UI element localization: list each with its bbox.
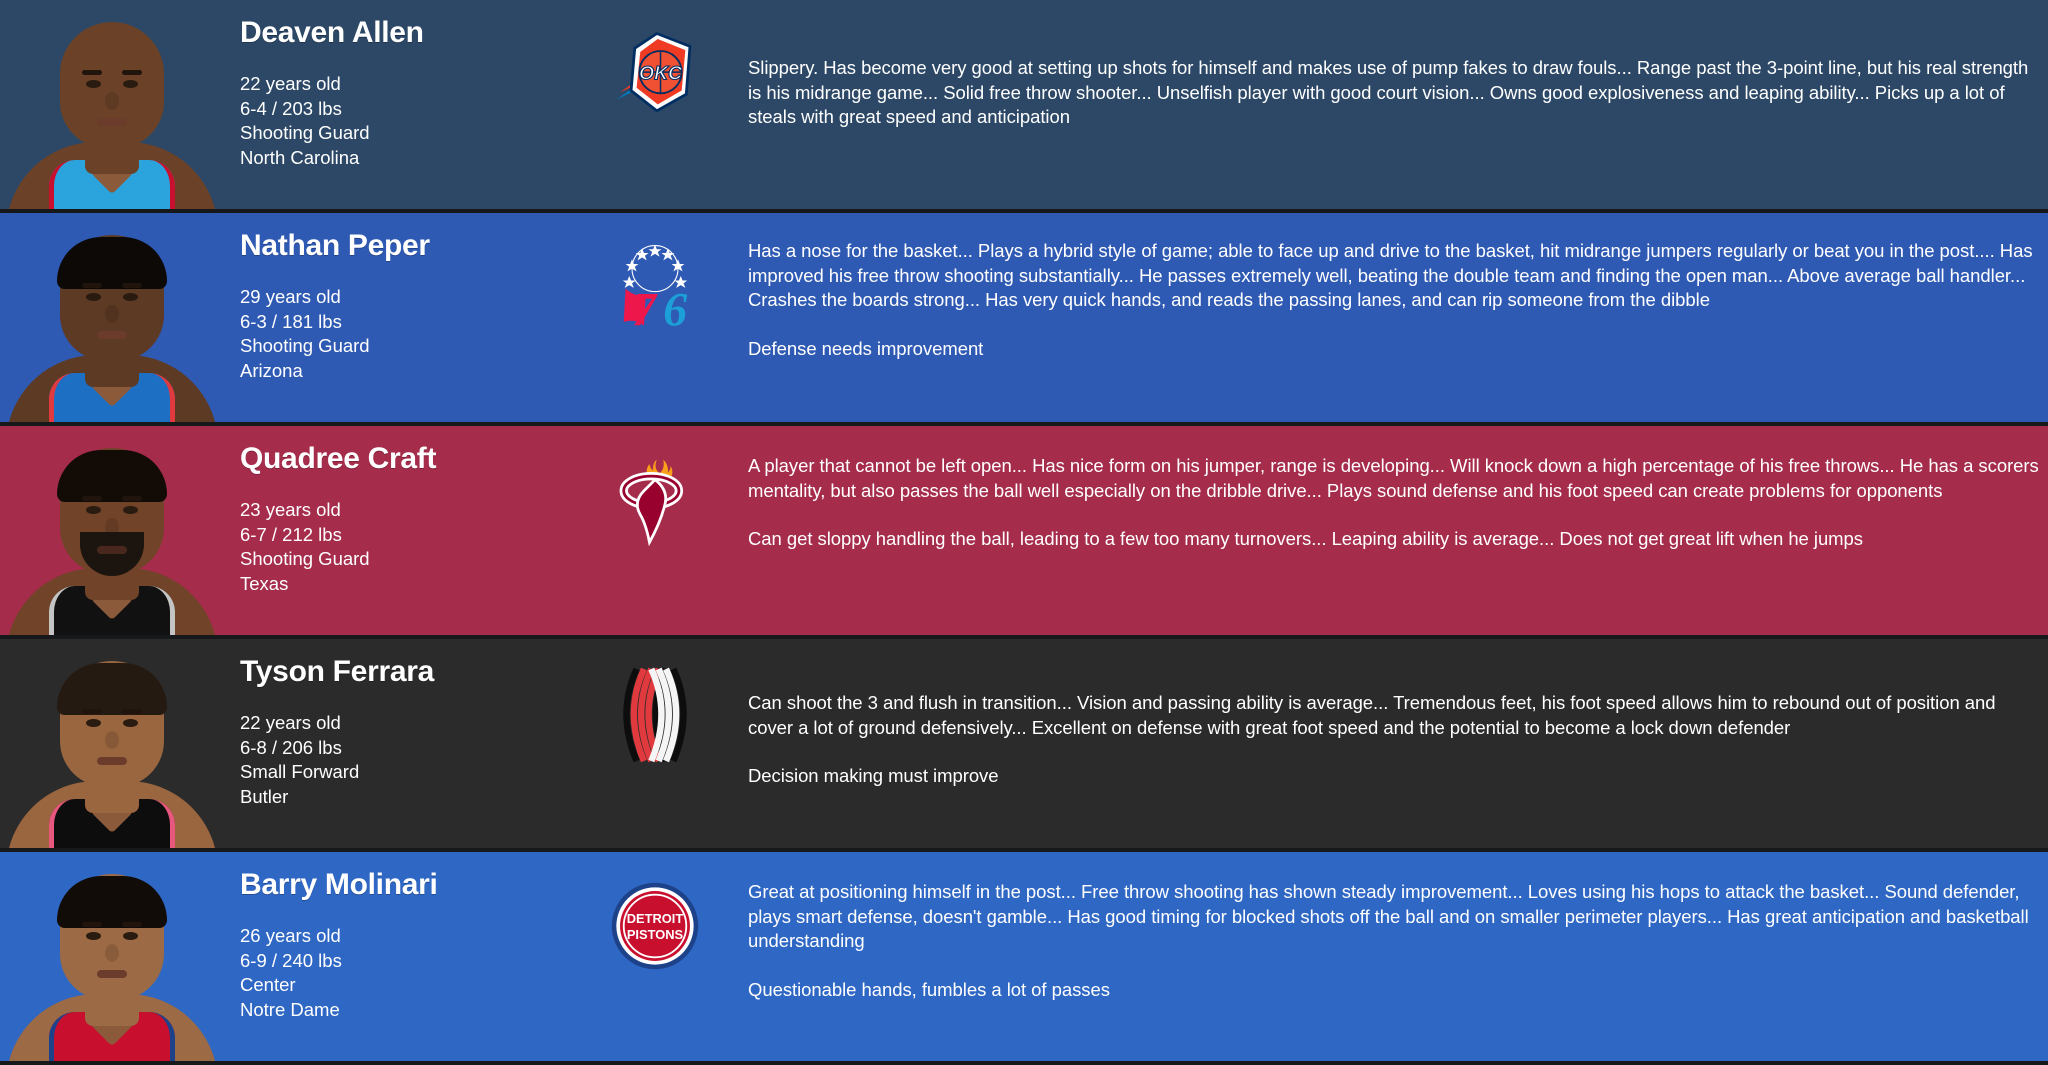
player-measurements: 6-4 / 203 lbs [240, 97, 540, 122]
player-weaknesses: Can get sloppy handling the ball, leadin… [748, 527, 2044, 552]
player-meta: 23 years old 6-7 / 212 lbs Shooting Guar… [240, 498, 540, 596]
player-info: Quadree Craft 23 years old 6-7 / 212 lbs… [240, 426, 540, 635]
player-name: Barry Molinari [240, 852, 540, 902]
player-info: Tyson Ferrara 22 years old 6-8 / 206 lbs… [240, 639, 540, 848]
player-weaknesses: Defense needs improvement [748, 337, 2044, 362]
player-scouting-description: Can shoot the 3 and flush in transition.… [748, 639, 2044, 848]
player-scouting-description: A player that cannot be left open... Has… [748, 426, 2044, 635]
player-portrait: ✔ LOVE'S [8, 0, 216, 209]
philadelphia-76ers-logo: 7 6 [600, 213, 710, 422]
player-card-row[interactable]: ✔ BIOFREEZE Tyson Ferrara 22 years old 6… [0, 639, 2048, 852]
player-school: Arizona [240, 359, 540, 384]
player-portrait: ✔ Ultimate SOFTWARE [8, 426, 216, 635]
player-weaknesses: Decision making must improve [748, 764, 2044, 789]
player-school: North Carolina [240, 146, 540, 171]
player-card-row[interactable]: ✔ Flagstar Barry Molinari 26 years old 6… [0, 852, 2048, 1065]
player-name: Tyson Ferrara [240, 639, 540, 689]
player-strengths: Has a nose for the basket... Plays a hyb… [748, 239, 2044, 313]
player-scouting-description: Great at positioning himself in the post… [748, 852, 2044, 1061]
player-strengths: A player that cannot be left open... Has… [748, 454, 2044, 503]
player-info: Nathan Peper 29 years old 6-3 / 181 lbs … [240, 213, 540, 422]
portland-trail-blazers-logo [600, 639, 710, 848]
player-scouting-description: Has a nose for the basket... Plays a hyb… [748, 213, 2044, 422]
player-age: 22 years old [240, 72, 540, 97]
player-card-row[interactable]: ✔ Ultimate SOFTWARE Quadree Craft 23 yea… [0, 426, 2048, 639]
player-portrait: ✔ BIOFREEZE [8, 639, 216, 848]
svg-text:DETROIT: DETROIT [627, 911, 684, 926]
player-age: 29 years old [240, 285, 540, 310]
player-position: Shooting Guard [240, 547, 540, 572]
player-name: Quadree Craft [240, 426, 540, 476]
player-school: Butler [240, 785, 540, 810]
player-portrait: ✔ Flagstar [8, 852, 216, 1061]
svg-text:6: 6 [663, 284, 687, 333]
player-strengths: Great at positioning himself in the post… [748, 880, 2044, 954]
player-position: Small Forward [240, 760, 540, 785]
player-position: Shooting Guard [240, 334, 540, 359]
player-measurements: 6-7 / 212 lbs [240, 523, 540, 548]
player-age: 23 years old [240, 498, 540, 523]
player-card-row[interactable]: ✔ StubHub Nathan Peper 29 years old 6-3 … [0, 213, 2048, 426]
player-card-row[interactable]: ✔ LOVE'S Deaven Allen 22 years old 6-4 /… [0, 0, 2048, 213]
detroit-pistons-logo: DETROIT PISTONS [600, 852, 710, 1061]
player-meta: 22 years old 6-4 / 203 lbs Shooting Guar… [240, 72, 540, 170]
player-measurements: 6-3 / 181 lbs [240, 310, 540, 335]
player-info: Barry Molinari 26 years old 6-9 / 240 lb… [240, 852, 540, 1061]
player-meta: 29 years old 6-3 / 181 lbs Shooting Guar… [240, 285, 540, 383]
player-info: Deaven Allen 22 years old 6-4 / 203 lbs … [240, 0, 540, 209]
player-strengths: Can shoot the 3 and flush in transition.… [748, 691, 2044, 740]
player-school: Texas [240, 572, 540, 597]
svg-text:OKC: OKC [639, 64, 683, 85]
player-position: Shooting Guard [240, 121, 540, 146]
player-portrait: ✔ StubHub [8, 213, 216, 422]
miami-heat-logo [600, 426, 710, 635]
player-measurements: 6-8 / 206 lbs [240, 736, 540, 761]
player-meta: 26 years old 6-9 / 240 lbs Center Notre … [240, 924, 540, 1022]
player-position: Center [240, 973, 540, 998]
svg-text:7: 7 [632, 284, 658, 333]
player-age: 26 years old [240, 924, 540, 949]
player-strengths: Slippery. Has become very good at settin… [748, 56, 2044, 130]
player-school: Notre Dame [240, 998, 540, 1023]
okc-thunder-logo: OKC [600, 0, 710, 209]
scouting-report-list: ✔ LOVE'S Deaven Allen 22 years old 6-4 /… [0, 0, 2048, 1064]
player-weaknesses: Questionable hands, fumbles a lot of pas… [748, 978, 2044, 1003]
player-scouting-description: Slippery. Has become very good at settin… [748, 0, 2044, 209]
player-name: Nathan Peper [240, 213, 540, 263]
player-name: Deaven Allen [240, 0, 540, 50]
svg-text:PISTONS: PISTONS [627, 927, 684, 942]
player-meta: 22 years old 6-8 / 206 lbs Small Forward… [240, 711, 540, 809]
player-age: 22 years old [240, 711, 540, 736]
player-measurements: 6-9 / 240 lbs [240, 949, 540, 974]
